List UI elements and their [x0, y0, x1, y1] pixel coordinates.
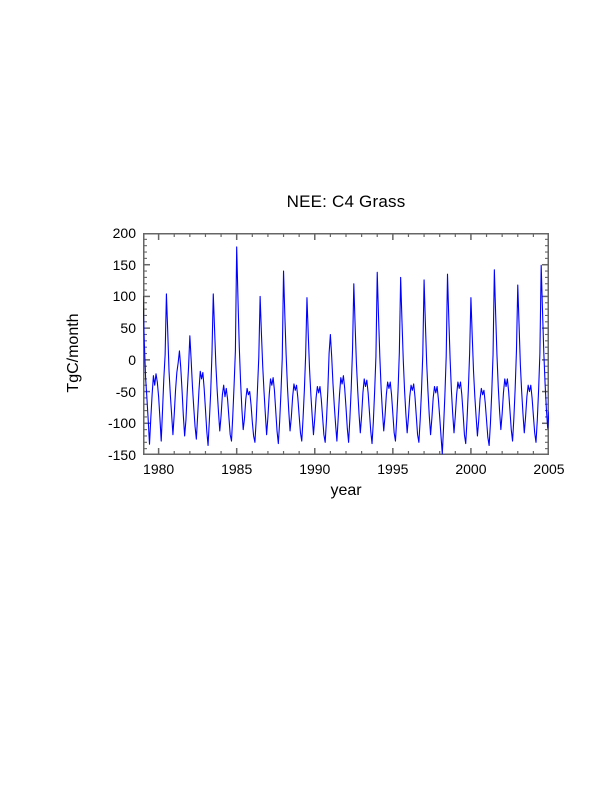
x-tick-label: 1985 — [221, 461, 252, 477]
y-tick-label: 50 — [120, 320, 136, 336]
figure-canvas: NEE: C4 Grass TgC/month year 20015010050… — [0, 0, 612, 792]
x-tick-label: 1980 — [143, 461, 174, 477]
y-tick-label: 0 — [128, 352, 136, 368]
y-tick-label: 200 — [113, 225, 136, 241]
y-axis-label: TgC/month — [65, 253, 83, 453]
data-series-group — [143, 247, 549, 454]
tick-marks — [143, 233, 549, 455]
y-tick-label: -50 — [116, 384, 136, 400]
y-tick-label: 150 — [113, 257, 136, 273]
data-line-0 — [143, 247, 549, 454]
x-tick-label: 2000 — [455, 461, 486, 477]
y-tick-label-group: 200150100500-50-100-150 — [92, 233, 136, 455]
y-tick-label: -100 — [108, 415, 136, 431]
y-tick-label: 100 — [113, 288, 136, 304]
x-tick-label: 1990 — [299, 461, 330, 477]
x-tick-label: 1995 — [377, 461, 408, 477]
x-tick-label: 2005 — [533, 461, 564, 477]
line-chart-svg — [143, 233, 549, 455]
plot-area — [143, 233, 549, 455]
y-tick-label: -150 — [108, 447, 136, 463]
plot-frame — [144, 234, 549, 455]
axis-frame — [144, 234, 549, 455]
x-axis-label: year — [143, 482, 549, 500]
x-tick-label-group: 198019851990199520002005 — [143, 461, 549, 481]
chart-title: NEE: C4 Grass — [143, 192, 549, 212]
